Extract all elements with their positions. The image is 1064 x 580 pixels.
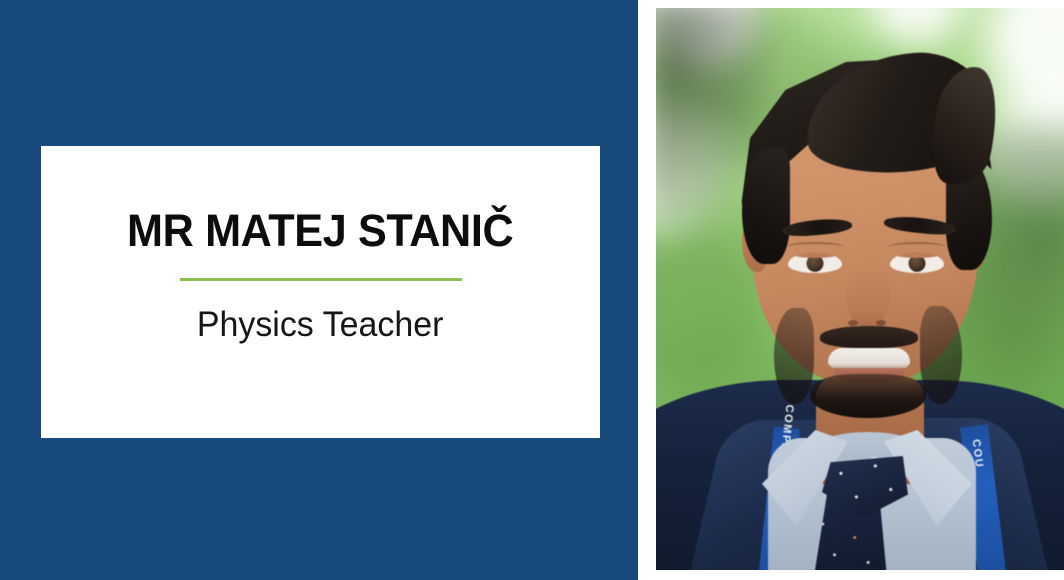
moustache bbox=[820, 326, 918, 348]
name-card-content: MR MATEJ STANIČ Physics Teacher bbox=[41, 206, 600, 345]
beard-left bbox=[774, 308, 814, 404]
job-title: Physics Teacher bbox=[197, 305, 444, 345]
nose bbox=[846, 266, 890, 328]
portrait-photo-canvas: COMPASSION. COU bbox=[656, 8, 1064, 570]
portrait-photo: COMPASSION. COU bbox=[656, 8, 1064, 570]
page-title: MR MATEJ STANIČ bbox=[127, 206, 513, 256]
eyelid-left bbox=[788, 252, 842, 258]
chin-beard bbox=[810, 374, 926, 418]
eye-crease-right bbox=[888, 242, 946, 252]
eye-right bbox=[890, 252, 944, 273]
beard-right bbox=[920, 306, 962, 404]
hair-side-left bbox=[742, 148, 790, 264]
eye-crease-left bbox=[786, 242, 844, 252]
accent-divider bbox=[180, 278, 462, 281]
eye-left bbox=[788, 252, 842, 273]
staff-profile-card: MR MATEJ STANIČ Physics Teacher COMPASSI… bbox=[0, 0, 1064, 580]
nostril-right bbox=[876, 320, 886, 326]
eyelid-right bbox=[890, 252, 944, 258]
nostril-left bbox=[848, 320, 858, 326]
blue-background-panel: MR MATEJ STANIČ Physics Teacher bbox=[0, 0, 638, 580]
name-card: MR MATEJ STANIČ Physics Teacher bbox=[41, 146, 600, 438]
